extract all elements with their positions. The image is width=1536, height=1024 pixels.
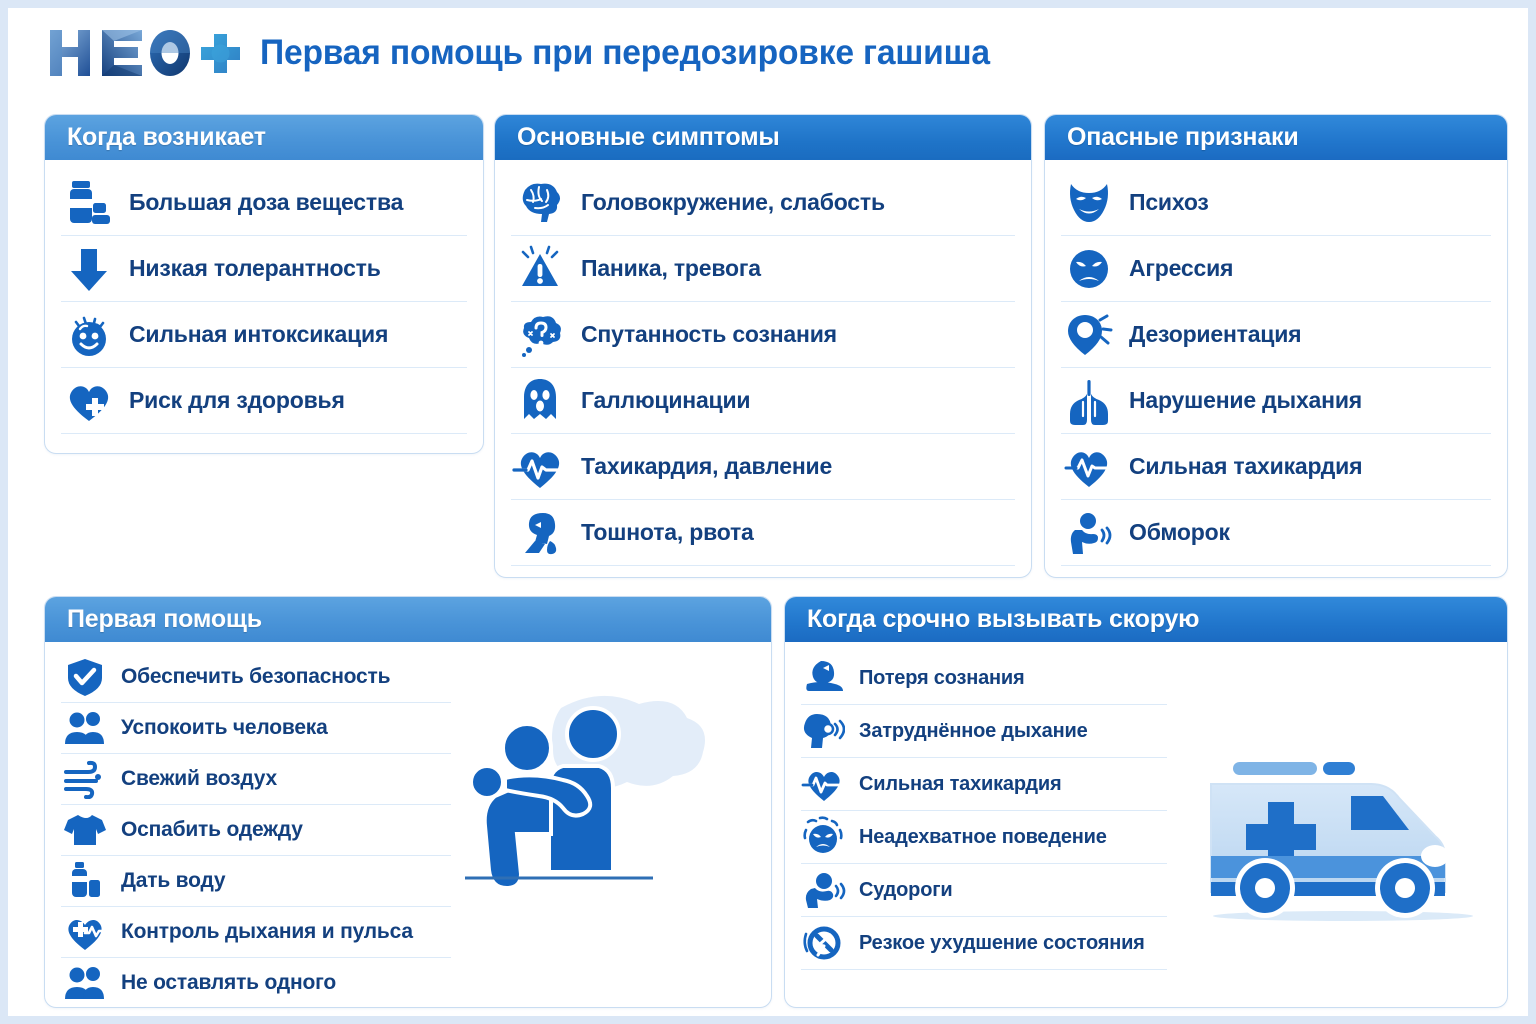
list-item-label: Сильная тахикардия [859, 773, 1061, 796]
dizzy-face-icon [61, 309, 117, 361]
list-item[interactable]: Обеспечить безопасность [61, 652, 451, 703]
list-item[interactable]: Затруднённое дыхание [801, 705, 1167, 758]
list-item-label: Свежий воздух [121, 767, 277, 791]
devil-mask-icon [1061, 176, 1117, 230]
list-item[interactable]: Сильная интоксикация [61, 302, 467, 368]
two-people-comforting-illustration [465, 686, 765, 936]
list-item[interactable]: Дезориентация [1061, 302, 1491, 368]
list-item-label: Дезориентация [1129, 321, 1301, 348]
card-first-aid: Первая помощь Обеспечить безопасность [44, 596, 772, 1008]
location-pin-icon [1061, 308, 1117, 362]
card-body-when-occurs: Большая доза вещества Низкая толерантнос… [45, 160, 483, 444]
list-item-label: Спутанность сознания [581, 321, 837, 348]
heart-pulse-icon [511, 440, 569, 494]
list-item[interactable]: Тошнота, рвота [511, 500, 1015, 566]
page-frame: Первая помощь при передозировке гашиша К… [0, 0, 1536, 1024]
angry-dizzy-face-icon [801, 815, 847, 859]
card-title-main-symptoms: Основные симптомы [495, 115, 1031, 160]
list-item[interactable]: Агрессия [1061, 236, 1491, 302]
list-item-label: Большая доза вещества [129, 189, 403, 216]
brain-icon [511, 176, 569, 230]
list-item[interactable]: Тахикардия, давление [511, 434, 1015, 500]
wind-icon [61, 757, 109, 801]
list-item[interactable]: Обморок [1061, 500, 1491, 566]
list-item[interactable]: Психоз [1061, 170, 1491, 236]
tshirt-icon [61, 808, 109, 852]
list-item[interactable]: Судороги [801, 864, 1167, 917]
card-title-when-occurs: Когда возникает [45, 115, 483, 160]
list-item[interactable]: Успокоить человека [61, 703, 451, 754]
list-item-label: Резкое ухудшение состояния [859, 932, 1145, 955]
page-title: Первая помощь при передозировке гашиша [260, 33, 990, 73]
ambulance-illustration [1173, 740, 1493, 930]
list-item[interactable]: Потеря сознания [801, 652, 1167, 705]
two-people-icon [61, 961, 109, 1005]
lungs-icon [1061, 374, 1117, 428]
list-item-label: Контроль дыхания и пульса [121, 920, 413, 944]
card-body-main-symptoms: Головокружение, слабость Паника, тревога [495, 160, 1031, 576]
list-item-label: Тошнота, рвота [581, 519, 754, 546]
two-people-icon [61, 706, 109, 750]
card-when-occurs: Когда возникает Большая доза вещества [44, 114, 484, 454]
list-item-label: Тахикардия, давление [581, 453, 832, 480]
card-body-first-aid: Обеспечить безопасность Успокоить челове… [45, 642, 771, 1008]
list-item-label: Риск для здоровья [129, 387, 345, 414]
list-item[interactable]: Низкая толерантность [61, 236, 467, 302]
list-item[interactable]: Оспабить одежду [61, 805, 451, 856]
list-item-label: Потеря сознания [859, 667, 1024, 690]
breathing-difficulty-icon [801, 709, 847, 753]
card-main-symptoms: Основные симптомы Головокружение, слабос… [494, 114, 1032, 578]
list-item-label: Успокоить человека [121, 716, 328, 740]
list-item[interactable]: Не оставлять одного [61, 958, 451, 1008]
list-item-label: Агрессия [1129, 255, 1233, 282]
seizure-person-icon [801, 868, 847, 912]
angry-face-icon [1061, 242, 1117, 296]
list-item[interactable]: Неадехватное поведение [801, 811, 1167, 864]
card-emergency-call: Когда срочно вызывать скорую Потеря созн… [784, 596, 1508, 1008]
list-item-label: Нарушение дыхания [1129, 387, 1362, 414]
list-item-label: Обеспечить безопасность [121, 665, 390, 689]
list-item[interactable]: Контроль дыхания и пульса [61, 907, 451, 958]
thought-question-icon [511, 308, 569, 362]
list-item-label: Низкая толерантность [129, 255, 381, 282]
page-header: Первая помощь при передозировке гашиша [46, 22, 1020, 84]
list-item[interactable]: Спутанность сознания [511, 302, 1015, 368]
list-item[interactable]: Нарушение дыхания [1061, 368, 1491, 434]
down-arrow-icon [61, 243, 117, 295]
shield-check-icon [61, 655, 109, 699]
list-item-label: Не оставлять одного [121, 971, 336, 995]
heart-pulse-icon [1061, 440, 1117, 494]
warning-triangle-icon [511, 242, 569, 296]
heart-cross-pulse-icon [61, 910, 109, 954]
list-item-label: Обморок [1129, 519, 1230, 546]
list-item[interactable]: Резкое ухудшение состояния [801, 917, 1167, 970]
list-item[interactable]: Свежий воздух [61, 754, 451, 805]
card-danger-signs: Опасные признаки Психоз [1044, 114, 1508, 578]
pill-bottle-icon [61, 177, 117, 229]
list-item[interactable]: Дать воду [61, 856, 451, 907]
list-item-label: Паника, тревога [581, 255, 761, 282]
card-title-danger-signs: Опасные признаки [1045, 115, 1507, 160]
list-item-label: Судороги [859, 879, 952, 902]
fainting-person-icon [1061, 506, 1117, 560]
list-item-label: Затруднённое дыхание [859, 720, 1088, 743]
card-body-emergency-call: Потеря сознания Затруднённое дыхание [785, 642, 1507, 980]
list-item-label: Дать воду [121, 869, 225, 893]
neo-plus-logo [46, 24, 244, 82]
card-body-danger-signs: Психоз Агрессия [1045, 160, 1507, 576]
list-item[interactable]: Сильная тахикардия [1061, 434, 1491, 500]
list-item[interactable]: Большая доза вещества [61, 170, 467, 236]
list-item[interactable]: Головокружение, слабость [511, 170, 1015, 236]
declining-health-icon [801, 921, 847, 965]
heart-pulse-icon [801, 762, 847, 806]
list-item[interactable]: Паника, тревога [511, 236, 1015, 302]
infographic-page: Первая помощь при передозировке гашиша К… [8, 8, 1528, 1016]
list-item-label: Головокружение, слабость [581, 189, 885, 216]
list-item[interactable]: Сильная тахикардия [801, 758, 1167, 811]
list-item-label: Сильная интоксикация [129, 321, 388, 348]
list-item-label: Психоз [1129, 189, 1209, 216]
list-item-label: Галлюцинации [581, 387, 750, 414]
card-title-emergency-call: Когда срочно вызывать скорую [785, 597, 1507, 642]
list-item[interactable]: Риск для здоровья [61, 368, 467, 434]
list-item-label: Неадехватное поведение [859, 826, 1107, 849]
ghost-icon [511, 374, 569, 428]
water-bottle-icon [61, 859, 109, 903]
vomiting-icon [511, 506, 569, 560]
unconscious-person-icon [801, 656, 847, 700]
list-item-label: Оспабить одежду [121, 818, 303, 842]
heart-cross-icon [61, 375, 117, 427]
card-title-first-aid: Первая помощь [45, 597, 771, 642]
list-item[interactable]: Галлюцинации [511, 368, 1015, 434]
list-item-label: Сильная тахикардия [1129, 453, 1362, 480]
